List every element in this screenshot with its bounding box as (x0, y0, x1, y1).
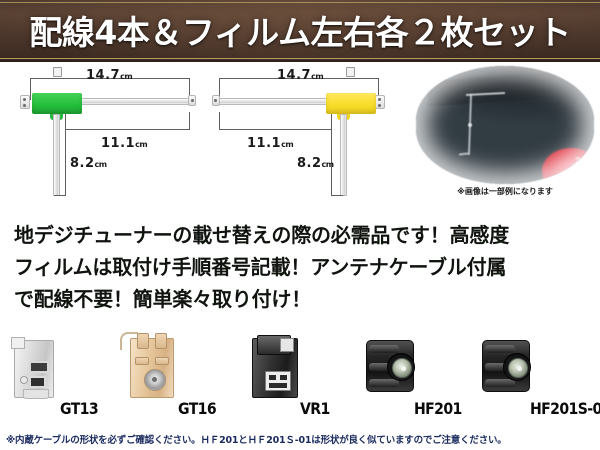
dim-label-8-2-right: 8.2cm (297, 152, 334, 171)
gt13-connector-image (8, 334, 64, 402)
banner-top-gold-line (0, 2, 600, 3)
windshield-photo-inset: 30 9 ※画像は一部例になります (412, 64, 598, 214)
gt16-lug-right (155, 333, 167, 349)
hf201s01-rib-3 (485, 379, 515, 387)
gt16-slot-left (135, 357, 149, 365)
photo-caption: ※画像は一部例になります (412, 186, 598, 197)
vr1-pin-3 (269, 383, 287, 388)
yellow-antenna-pad (326, 93, 376, 114)
vr1-notch (280, 338, 294, 352)
connector-label-gt13: GT13 (60, 399, 98, 418)
footer-disclaimer-text: ※内蔵ケーブルの形状を必ずご確認ください。ＨＦ201とＨＦ201Ｓ-01は形状が… (0, 432, 507, 446)
gt16-slot-right (155, 357, 169, 365)
vr1-pin-2 (280, 375, 287, 380)
sticker-number-9: 9 (557, 171, 569, 184)
dim-label-11-1-left: 11.1cm (101, 132, 147, 151)
description-line-1: 地デジチューナーの載せ替えの際の必需品です！高感度 (14, 219, 592, 251)
connector-row: GT13 GT16 (0, 332, 600, 424)
connector-vr1: VR1 (248, 332, 348, 424)
description-line-3: で配線不要！簡単楽々取り付け！ (14, 283, 592, 315)
hf201s01-body (482, 340, 530, 392)
product-banner-image: 配線4本＆フィルム左右各２枚セット 14.7cm (0, 0, 600, 450)
hf201-rib-3 (369, 379, 399, 387)
hf201s01-coax-ring (508, 358, 528, 378)
gt13-top-clip (11, 337, 25, 349)
antenna-right-tab-dot (191, 99, 194, 102)
dim-label-14-7-left: 14.7cm (86, 64, 132, 83)
dim-label-14-7-right: 14.7cm (277, 64, 323, 83)
hf201-body (366, 340, 414, 392)
gt16-lug-left (137, 333, 149, 349)
vr1-top-shroud (257, 335, 291, 355)
dim-mid-left-tick-r (219, 112, 220, 130)
hf201s01-barrel (503, 353, 531, 381)
vr1-body (252, 338, 298, 398)
connector-label-gt16: GT16 (178, 399, 216, 418)
dim-mid-line-r (219, 129, 332, 130)
gt13-body (14, 340, 54, 398)
vr1-connector-image (248, 334, 304, 402)
hf201-coax-ring (392, 358, 412, 378)
dim-label-8-2-left: 8.2cm (70, 152, 107, 171)
hf201s01-center-core (517, 366, 522, 371)
vr1-pin-1 (269, 375, 276, 380)
dim-vert-line (65, 118, 66, 196)
description-line-2: フィルムは取付け手順番号記載！アンテナケーブル付属 (14, 251, 592, 283)
hf201-barrel (387, 353, 415, 381)
gt13-port-lower (29, 376, 46, 388)
dim-label-11-1-right: 11.1cm (247, 132, 293, 151)
antenna-tab-dot-2-r (378, 104, 381, 107)
dim-mid-line (65, 129, 190, 130)
dim-vert-bottom-tick (54, 195, 66, 196)
antenna-tab-dot-2 (23, 104, 26, 107)
antenna-vertical-strip-r (340, 114, 347, 196)
description-block: 地デジチューナーの載せ替えの際の必需品です！高感度 フィルムは取付け手順番号記載… (14, 219, 592, 315)
dim-vert-bottom-tick-r (331, 195, 343, 196)
right-antenna-film: 14.7cm 11.1cm (205, 62, 405, 214)
hf201-rib-1 (369, 345, 399, 353)
antenna-pad-badge-r (346, 67, 355, 77)
hf201s01-connector-image (478, 334, 534, 402)
antenna-tab-dot-1 (23, 98, 26, 101)
hf201s01-rib-1 (485, 345, 515, 353)
gt16-connector-image (126, 334, 182, 402)
gt16-center-pin (152, 377, 157, 382)
dim-mid-right-tick (189, 112, 190, 130)
left-antenna-film: 14.7cm 11.1cm (8, 62, 208, 214)
banner-title: 配線4本＆フィルム左右各２枚セット (0, 4, 600, 56)
gt13-bottom-clip (23, 389, 49, 399)
connector-label-hf201: HF201 (414, 399, 462, 418)
banner-bottom-gold-line (0, 58, 600, 59)
footer-disclaimer: ※内蔵ケーブルの形状を必ずご確認ください。ＨＦ201とＨＦ201Ｓ-01は形状が… (0, 428, 600, 450)
windshield-photo: 30 9 (416, 66, 594, 184)
antenna-pad-badge (53, 67, 62, 77)
hf201-connector-image (362, 334, 418, 402)
connector-label-hf201s01: HF201S-01 (530, 399, 600, 418)
connector-gt16: GT16 (126, 332, 226, 424)
vr1-port (265, 371, 291, 391)
connector-hf201s01: HF201S-01 (478, 332, 578, 424)
gt13-knob (20, 376, 28, 384)
connector-gt13: GT13 (8, 332, 108, 424)
hf201-center-core (401, 366, 406, 371)
connector-hf201: HF201 (362, 332, 462, 424)
antenna-tab-dot-1-r (378, 98, 381, 101)
antenna-left-tab-dot-r (214, 99, 217, 102)
gt16-body (130, 338, 174, 398)
antenna-vertical-strip (53, 114, 60, 196)
green-antenna-pad (32, 93, 82, 114)
dim-top-left-tick (30, 78, 31, 100)
photo-vignette (416, 66, 594, 184)
header-banner: 配線4本＆フィルム左右各２枚セット (0, 0, 600, 62)
connector-label-vr1: VR1 (300, 399, 330, 418)
gt13-port-upper (29, 361, 49, 373)
